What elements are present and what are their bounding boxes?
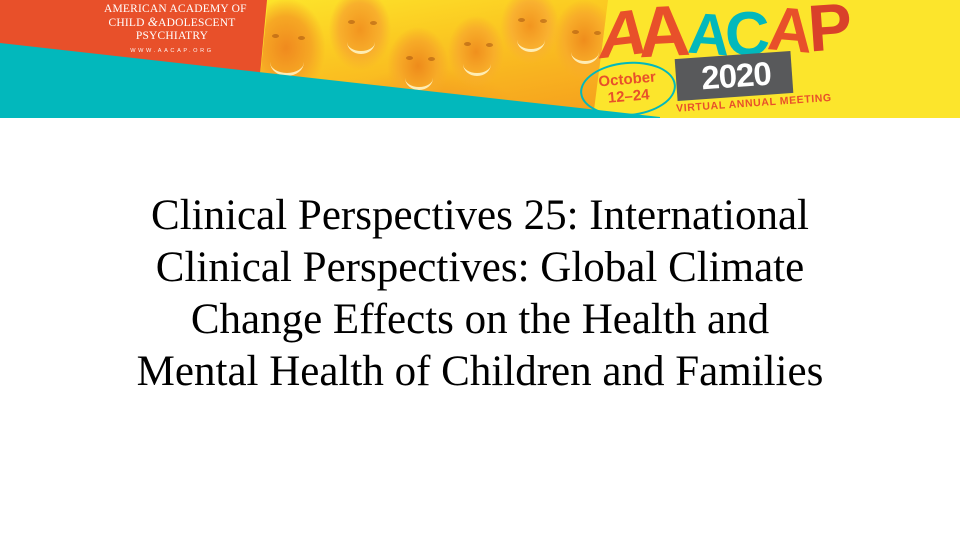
ampersand-glyph: & <box>148 14 158 29</box>
academy-website: WWW.AACAP.ORG <box>104 48 240 54</box>
event-dates: October 12–24 <box>580 60 676 118</box>
academy-line-2: CHILD &ADOLESCENT <box>104 15 240 29</box>
slide-title-line-1: Clinical Perspectives 25: International <box>20 190 940 242</box>
event-logo: A A A C A P 2020 VIRTUAL ANNUAL MEETING … <box>560 0 960 118</box>
academy-line-3: PSYCHIATRY <box>104 30 240 42</box>
academy-line-1: AMERICAN ACADEMY OF <box>104 3 240 15</box>
event-date-days: 12–24 <box>607 87 650 107</box>
conference-banner: A A A C A P 2020 VIRTUAL ANNUAL MEETING … <box>0 0 960 118</box>
academy-line-2-post: ADOLESCENT <box>158 17 235 29</box>
academy-line-2-pre: CHILD <box>109 17 148 29</box>
slide-title-line-2: Clinical Perspectives: Global Climate <box>20 242 940 294</box>
slide-title: Clinical Perspectives 25: International … <box>20 190 940 398</box>
wordmark-letter-p: P <box>806 0 855 61</box>
slide-title-line-3: Change Effects on the Health and <box>20 294 940 346</box>
academy-wordmark: AMERICAN ACADEMY OF CHILD &ADOLESCENT PS… <box>104 3 240 54</box>
slide-title-line-4: Mental Health of Children and Families <box>20 346 940 398</box>
event-year: 2020 <box>679 52 794 100</box>
